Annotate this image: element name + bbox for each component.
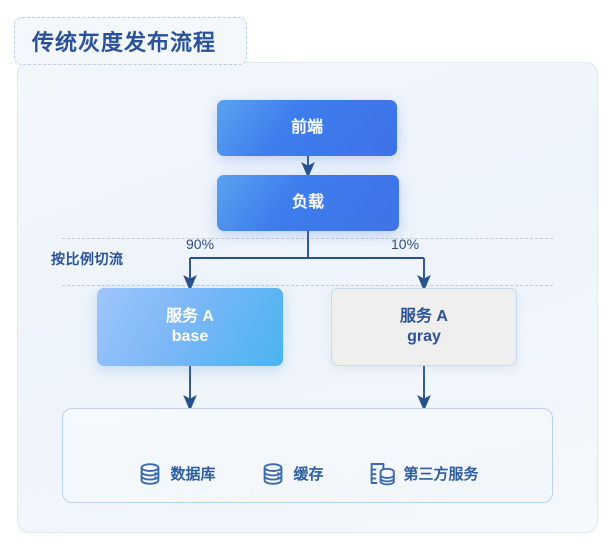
node-frontend-label: 前端 — [291, 118, 323, 138]
node-load-balancer[interactable]: 负载 — [217, 175, 399, 231]
resources-row: 数据库 缓存 — [136, 460, 478, 488]
resource-item-cache[interactable]: 缓存 — [259, 460, 323, 488]
resource-label-cache: 缓存 — [293, 463, 323, 484]
cache-database-icon — [259, 460, 287, 488]
resources-panel: 数据库 缓存 — [62, 408, 553, 503]
node-service-a-gray-line2: gray — [407, 327, 441, 347]
traffic-percent-base: 90% — [186, 236, 214, 252]
traffic-percent-gray: 10% — [391, 236, 419, 252]
page-title: 传统灰度发布流程 — [32, 25, 216, 57]
node-service-a-base-line2: base — [172, 327, 208, 347]
resource-item-database[interactable]: 数据库 — [136, 460, 215, 488]
node-frontend[interactable]: 前端 — [217, 100, 397, 156]
third-party-service-icon — [368, 460, 398, 488]
split-band-top-divider — [62, 238, 553, 239]
resource-label-database: 数据库 — [170, 463, 215, 484]
node-service-a-gray-line1: 服务 A — [400, 307, 448, 327]
resource-item-third-party[interactable]: 第三方服务 — [368, 460, 479, 488]
node-load-balancer-label: 负载 — [292, 193, 324, 213]
split-band-label: 按比例切流 — [51, 249, 124, 269]
node-service-a-gray[interactable]: 服务 A gray — [331, 288, 517, 366]
split-band-bottom-divider — [62, 285, 553, 286]
diagram-canvas: 传统灰度发布流程 按比例切流 90% 10% 前端 负载 服务 — [0, 0, 615, 554]
node-service-a-base-line1: 服务 A — [166, 307, 214, 327]
database-icon — [136, 460, 164, 488]
resource-label-third-party: 第三方服务 — [404, 463, 479, 484]
node-service-a-base[interactable]: 服务 A base — [97, 288, 283, 366]
diagram-title-chip: 传统灰度发布流程 — [14, 17, 247, 65]
